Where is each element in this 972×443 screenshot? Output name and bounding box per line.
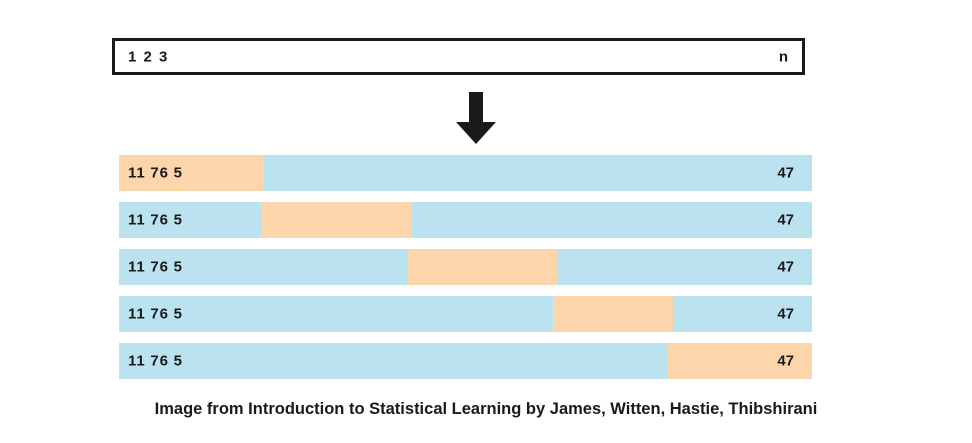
full-dataset-start-label: 1 2 3 [128,48,169,65]
table-row: 11 76 547 [119,296,812,332]
down-arrow-icon [452,92,500,144]
fold-end-label: 47 [777,306,794,323]
table-row: 11 76 547 [119,249,812,285]
fold-end-label: 47 [777,212,794,229]
figure-canvas: 1 2 3 n 11 76 54711 76 54711 76 54711 76… [0,0,972,443]
fold-start-label: 11 76 5 [128,353,183,370]
figure-caption: Image from Introduction to Statistical L… [0,400,972,419]
fold-end-label: 47 [777,259,794,276]
validation-fold-block [553,296,673,332]
fold-start-label: 11 76 5 [128,212,183,229]
fold-rows-container: 11 76 54711 76 54711 76 54711 76 54711 7… [119,155,812,380]
fold-start-label: 11 76 5 [128,165,183,182]
validation-fold-block [262,202,412,238]
table-row: 11 76 547 [119,155,812,191]
fold-start-label: 11 76 5 [128,306,183,323]
fold-start-label: 11 76 5 [128,259,183,276]
fold-end-label: 47 [777,353,794,370]
fold-end-label: 47 [777,165,794,182]
full-dataset-bar: 1 2 3 n [112,38,805,75]
validation-fold-block [407,249,557,285]
table-row: 11 76 547 [119,343,812,379]
table-row: 11 76 547 [119,202,812,238]
full-dataset-end-label: n [779,48,788,65]
